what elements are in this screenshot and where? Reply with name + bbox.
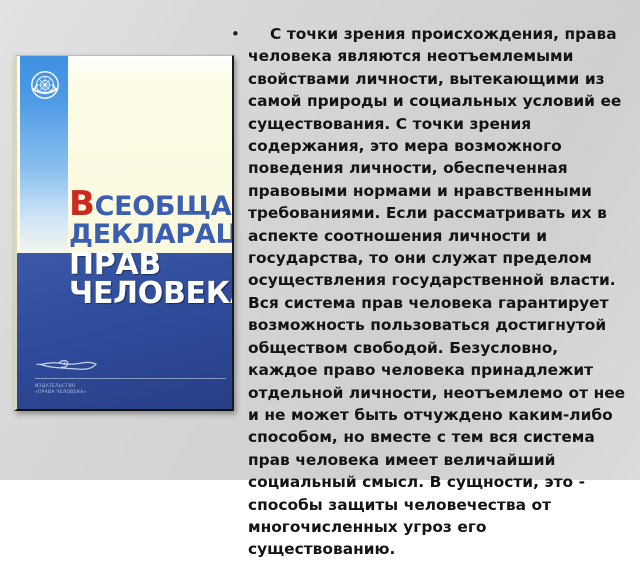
book-title-block: ВСЕОБЩАЯ ДЕКЛАРАЦИЯ ПРАВ ЧЕЛОВЕКА (69, 191, 234, 308)
publisher-name: Издательство «Права человека» (35, 384, 87, 396)
book-title-line-1: ВСЕОБЩАЯ (69, 191, 234, 220)
body-paragraph: С точки зрения происхождения, права чело… (248, 23, 630, 561)
book-title-line-3: ПРАВ (69, 251, 234, 279)
book-cover-image: ВСЕОБЩАЯ ДЕКЛАРАЦИЯ ПРАВ ЧЕЛОВЕКА Издате… (14, 55, 234, 411)
book-cover-inner: ВСЕОБЩАЯ ДЕКЛАРАЦИЯ ПРАВ ЧЕЛОВЕКА Издате… (14, 55, 234, 411)
book-title-cap-letter: В (69, 184, 95, 224)
publisher-name-line-2: «Права человека» (35, 390, 87, 396)
content-text-block: • С точки зрения происхождения, права че… (228, 23, 630, 561)
un-emblem-icon (30, 70, 60, 100)
book-title-line-2: ДЕКЛАРАЦИЯ (69, 223, 234, 248)
book-title-line-1-rest: СЕОБЩАЯ (95, 191, 234, 222)
bullet-marker-icon: • (228, 23, 248, 45)
book-title-line-4: ЧЕЛОВЕКА (69, 280, 234, 308)
bullet-list-item: • С точки зрения происхождения, права че… (228, 23, 630, 561)
slide-canvas: ВСЕОБЩАЯ ДЕКЛАРАЦИЯ ПРАВ ЧЕЛОВЕКА Издате… (0, 0, 640, 480)
quill-publisher-logo-icon (35, 355, 101, 375)
publisher-divider (35, 378, 226, 379)
